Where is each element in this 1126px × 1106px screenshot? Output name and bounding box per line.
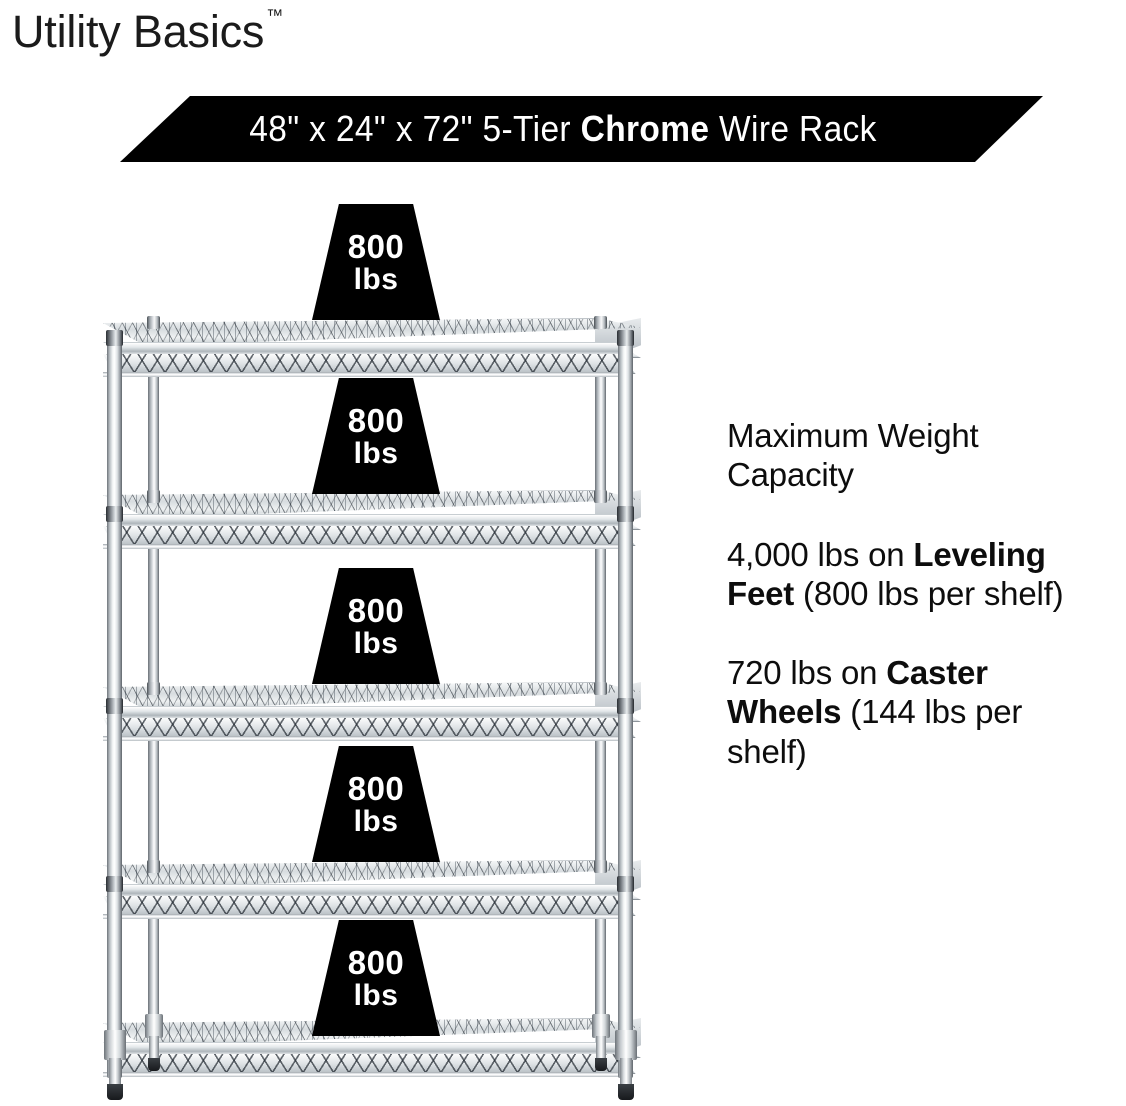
- shelf-5-truss: [103, 1054, 641, 1074]
- banner-material: Chrome: [581, 108, 710, 150]
- shelf-1-truss: [103, 354, 641, 374]
- weight-badge-3: 800 lbs: [312, 568, 440, 684]
- leveling-foot-rear-right: [592, 1014, 610, 1076]
- front-left-collar-2: [106, 506, 123, 522]
- weight-badge-1: 800 lbs: [312, 204, 440, 320]
- foot-ferrule: [592, 1014, 610, 1038]
- badge-text: 800 lbs: [312, 378, 440, 494]
- foot-ferrule: [104, 1030, 126, 1060]
- shelf-2-deck: [103, 490, 641, 518]
- front-right-collar-1: [617, 330, 634, 346]
- badge-number: 800: [348, 594, 405, 627]
- badge-number: 800: [348, 230, 405, 263]
- front-right-collar-4: [617, 876, 634, 892]
- badge-text: 800 lbs: [312, 746, 440, 862]
- banner-title-text: 48" x 24" x 72" 5-Tier Chrome Wire Rack: [39, 96, 1086, 162]
- brand-title: Utility Basics™: [12, 6, 283, 58]
- banner-dimensions: 48" x 24" x 72": [249, 108, 473, 150]
- badge-unit: lbs: [354, 807, 399, 837]
- badge-number: 800: [348, 946, 405, 979]
- front-right-collar-3: [617, 698, 634, 714]
- foot-stem: [596, 1036, 606, 1060]
- foot-ferrule: [145, 1014, 163, 1038]
- shelf-4: [103, 860, 641, 922]
- capacity-copy-block: Maximum Weight Capacity 4,000 lbs on Lev…: [727, 416, 1099, 771]
- product-title-banner: 48" x 24" x 72" 5-Tier Chrome Wire Rack: [0, 96, 1126, 162]
- caster-wheels-capacity: 720 lbs on Caster Wheels (144 lbs per sh…: [727, 653, 1099, 771]
- shelf-4-edge: [103, 914, 641, 919]
- weight-badge-5: 800 lbs: [312, 920, 440, 1036]
- capacity-heading: Maximum Weight Capacity: [727, 416, 1099, 495]
- badge-text: 800 lbs: [312, 204, 440, 320]
- shelf-3-edge: [103, 736, 641, 741]
- banner-tier: 5-Tier: [483, 108, 571, 150]
- shelf-2: [103, 490, 641, 552]
- foot-ferrule: [615, 1030, 637, 1060]
- badge-unit: lbs: [354, 265, 399, 295]
- leveling-foot-front-left: [104, 1030, 126, 1102]
- leveling-foot-front-right: [615, 1030, 637, 1102]
- foot-rubber-tip: [107, 1084, 123, 1100]
- rear-right-collar-4: [594, 860, 607, 873]
- foot-stem: [620, 1058, 632, 1086]
- badge-text: 800 lbs: [312, 920, 440, 1036]
- shelf-1-deck: [103, 318, 641, 346]
- rear-right-collar-3: [594, 682, 607, 695]
- rear-left-collar-1: [147, 316, 160, 329]
- shelf-4-truss: [103, 896, 641, 916]
- front-right-collar-2: [617, 506, 634, 522]
- shelf-5-edge: [103, 1072, 641, 1077]
- badge-unit: lbs: [354, 629, 399, 659]
- banner-product: Wire Rack: [719, 108, 877, 150]
- weight-badge-4: 800 lbs: [312, 746, 440, 862]
- leveling-feet-capacity: 4,000 lbs on Leveling Feet (800 lbs per …: [727, 535, 1099, 614]
- wire-rack-illustration: 800 lbs 800 lbs 800 lbs 800 lbs: [85, 300, 650, 1100]
- shelf-2-truss: [103, 526, 641, 546]
- shelf-1-edge: [103, 372, 641, 377]
- product-infographic: Utility Basics™ 48" x 24" x 72" 5-Tier C…: [0, 0, 1126, 1106]
- trademark-symbol: ™: [266, 6, 283, 25]
- front-left-collar-1: [106, 330, 123, 346]
- badge-number: 800: [348, 772, 405, 805]
- rear-right-collar-1: [594, 316, 607, 329]
- front-left-collar-3: [106, 698, 123, 714]
- rear-left-collar-3: [147, 682, 160, 695]
- badge-unit: lbs: [354, 981, 399, 1011]
- leveling-detail: (800 lbs per shelf): [794, 575, 1063, 612]
- brand-name: Utility Basics: [12, 6, 264, 57]
- shelf-3-deck: [103, 682, 641, 710]
- foot-stem: [149, 1036, 159, 1060]
- badge-number: 800: [348, 404, 405, 437]
- rear-right-collar-2: [594, 490, 607, 503]
- leveling-foot-rear-left: [145, 1014, 163, 1076]
- shelf-2-edge: [103, 544, 641, 549]
- shelf-3: [103, 682, 641, 744]
- caster-total: 720 lbs on: [727, 654, 886, 691]
- badge-text: 800 lbs: [312, 568, 440, 684]
- front-left-collar-4: [106, 876, 123, 892]
- foot-rubber-tip: [595, 1058, 608, 1071]
- weight-badge-2: 800 lbs: [312, 378, 440, 494]
- rear-left-collar-2: [147, 490, 160, 503]
- leveling-total: 4,000 lbs on: [727, 536, 913, 573]
- badge-unit: lbs: [354, 439, 399, 469]
- rear-left-collar-4: [147, 860, 160, 873]
- shelf-4-deck: [103, 860, 641, 888]
- shelf-1: [103, 318, 641, 380]
- foot-rubber-tip: [148, 1058, 161, 1071]
- foot-stem: [109, 1058, 121, 1086]
- shelf-3-truss: [103, 718, 641, 738]
- foot-rubber-tip: [618, 1084, 634, 1100]
